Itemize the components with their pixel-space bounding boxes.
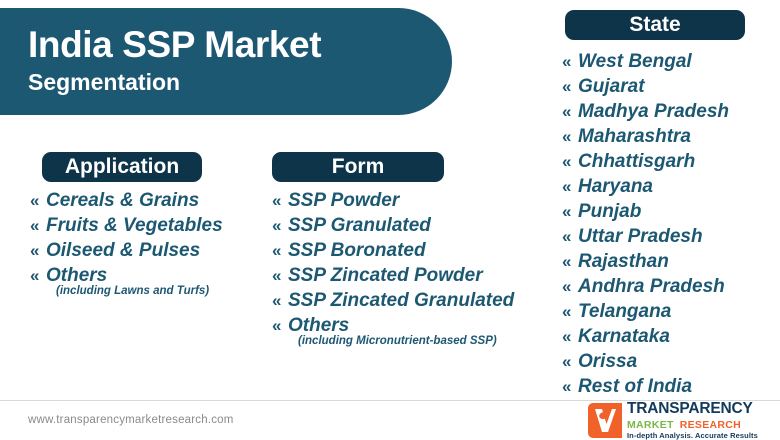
bullet-icon: « <box>562 274 578 299</box>
list-item: « SSP Zincated Powder <box>272 263 557 288</box>
bullet-icon: « <box>562 149 578 174</box>
list-item-label: Orissa <box>578 349 637 374</box>
list-item: « Fruits & Vegetables <box>30 213 270 238</box>
list-item: « Rajasthan <box>562 249 778 274</box>
list-item: « SSP Boronated <box>272 238 557 263</box>
list-item-note: (including Micronutrient-based SSP) <box>272 335 557 348</box>
logo-tagline: In-depth Analysis. Accurate Results <box>627 431 780 440</box>
bullet-icon: « <box>272 238 288 263</box>
list-item-note: (including Lawns and Turfs) <box>30 285 270 298</box>
column-header-form: Form <box>272 152 444 182</box>
infographic-root: India SSP Market Segmentation Applicatio… <box>0 0 780 440</box>
list-item-label: Andhra Pradesh <box>578 274 725 299</box>
bullet-icon: « <box>562 74 578 99</box>
list-item: « Cereals & Grains <box>30 188 270 213</box>
list-item-label: Uttar Pradesh <box>578 224 703 249</box>
bullet-icon: « <box>562 349 578 374</box>
check-v-icon <box>593 407 617 434</box>
title-banner: India SSP Market Segmentation <box>0 8 452 115</box>
column-header-state: State <box>565 10 745 40</box>
list-item-label: Maharashtra <box>578 124 691 149</box>
list-item-label: Rajasthan <box>578 249 669 274</box>
list-item-label: Punjab <box>578 199 641 224</box>
bullet-icon: « <box>562 49 578 74</box>
bullet-icon: « <box>562 324 578 349</box>
logo-subtitle: MARKETRESEARCH <box>627 419 780 431</box>
logo-wordmark: TRANSPARENCY MARKETRESEARCH In-depth Ana… <box>622 403 780 438</box>
list-item-label: Gujarat <box>578 74 645 99</box>
list-item-label: Karnataka <box>578 324 670 349</box>
checkmark-badge-icon <box>588 403 622 438</box>
list-item-label: SSP Powder <box>288 188 399 213</box>
bullet-icon: « <box>30 263 46 288</box>
column-header-application: Application <box>42 152 202 182</box>
column-list-application: « Cereals & Grains « Fruits & Vegetables… <box>30 188 270 298</box>
footer-website-url[interactable]: www.transparencymarketresearch.com <box>28 414 234 426</box>
bullet-icon: « <box>562 174 578 199</box>
bullet-icon: « <box>272 188 288 213</box>
list-item-label: Chhattisgarh <box>578 149 695 174</box>
bullet-icon: « <box>30 188 46 213</box>
list-item: « SSP Granulated <box>272 213 557 238</box>
list-item-label: SSP Boronated <box>288 238 426 263</box>
list-item: « Haryana <box>562 174 778 199</box>
bullet-icon: « <box>272 288 288 313</box>
bullet-icon: « <box>562 299 578 324</box>
list-item: « Orissa <box>562 349 778 374</box>
list-item: « Telangana <box>562 299 778 324</box>
list-item: « Uttar Pradesh <box>562 224 778 249</box>
list-item: « Rest of India <box>562 374 778 399</box>
list-item-label: Oilseed & Pulses <box>46 238 200 263</box>
page-subtitle: Segmentation <box>28 68 452 96</box>
list-item-label: Haryana <box>578 174 653 199</box>
bullet-icon: « <box>562 374 578 399</box>
column-header-form-label: Form <box>332 155 385 179</box>
bullet-icon: « <box>562 99 578 124</box>
bullet-icon: « <box>30 238 46 263</box>
bullet-icon: « <box>562 249 578 274</box>
list-item-label: Madhya Pradesh <box>578 99 729 124</box>
list-item-label: SSP Granulated <box>288 213 431 238</box>
list-item: « Oilseed & Pulses <box>30 238 270 263</box>
page-title: India SSP Market <box>28 22 452 68</box>
bullet-icon: « <box>562 224 578 249</box>
column-header-application-label: Application <box>65 155 179 179</box>
list-item: « West Bengal <box>562 49 778 74</box>
company-logo: TRANSPARENCY MARKETRESEARCH In-depth Ana… <box>588 403 772 438</box>
list-item-label: Fruits & Vegetables <box>46 213 223 238</box>
list-item: « SSP Zincated Granulated <box>272 288 557 313</box>
column-list-form: « SSP Powder « SSP Granulated « SSP Boro… <box>272 188 557 348</box>
list-item-label: Telangana <box>578 299 671 324</box>
logo-market-word: MARKET <box>627 419 674 431</box>
column-list-state: « West Bengal « Gujarat « Madhya Pradesh… <box>562 49 778 399</box>
list-item-label: Rest of India <box>578 374 692 399</box>
bullet-icon: « <box>272 313 288 338</box>
list-item-label: SSP Zincated Powder <box>288 263 483 288</box>
bullet-icon: « <box>562 199 578 224</box>
list-item-label: Cereals & Grains <box>46 188 199 213</box>
bullet-icon: « <box>272 263 288 288</box>
list-item-label: SSP Zincated Granulated <box>288 288 514 313</box>
bullet-icon: « <box>562 124 578 149</box>
list-item: « Madhya Pradesh <box>562 99 778 124</box>
bullet-icon: « <box>272 213 288 238</box>
bullet-icon: « <box>30 213 46 238</box>
logo-title: TRANSPARENCY <box>627 401 780 417</box>
list-item: « Andhra Pradesh <box>562 274 778 299</box>
list-item: « Maharashtra <box>562 124 778 149</box>
list-item: « Chhattisgarh <box>562 149 778 174</box>
list-item: « Punjab <box>562 199 778 224</box>
logo-research-word: RESEARCH <box>680 419 741 431</box>
list-item: « Karnataka <box>562 324 778 349</box>
column-header-state-label: State <box>629 13 680 37</box>
list-item: « SSP Powder <box>272 188 557 213</box>
list-item-label: West Bengal <box>578 49 692 74</box>
list-item: « Gujarat <box>562 74 778 99</box>
